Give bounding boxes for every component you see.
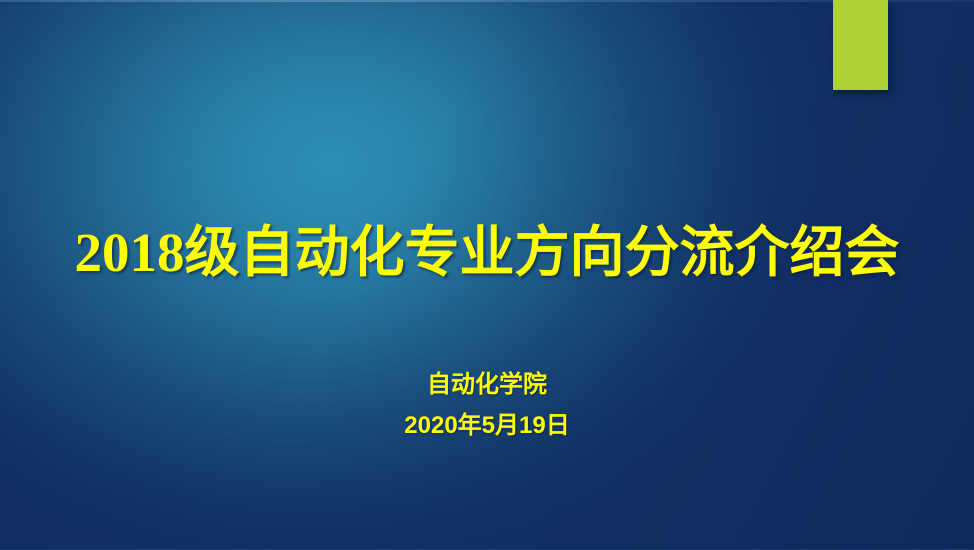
green-accent-rectangle: [833, 0, 888, 90]
title-container: 2018级自动化专业方向分流介绍会: [0, 222, 974, 284]
page-title: 2018级自动化专业方向分流介绍会: [0, 222, 974, 284]
subtitle-container: 自动化学院 2020年5月19日: [0, 364, 974, 446]
organization-label: 自动化学院: [0, 364, 974, 405]
presentation-title-slide: 2018级自动化专业方向分流介绍会 自动化学院 2020年5月19日: [0, 0, 974, 550]
date-label: 2020年5月19日: [0, 405, 974, 446]
slide-top-edge-highlight: [0, 0, 974, 2]
